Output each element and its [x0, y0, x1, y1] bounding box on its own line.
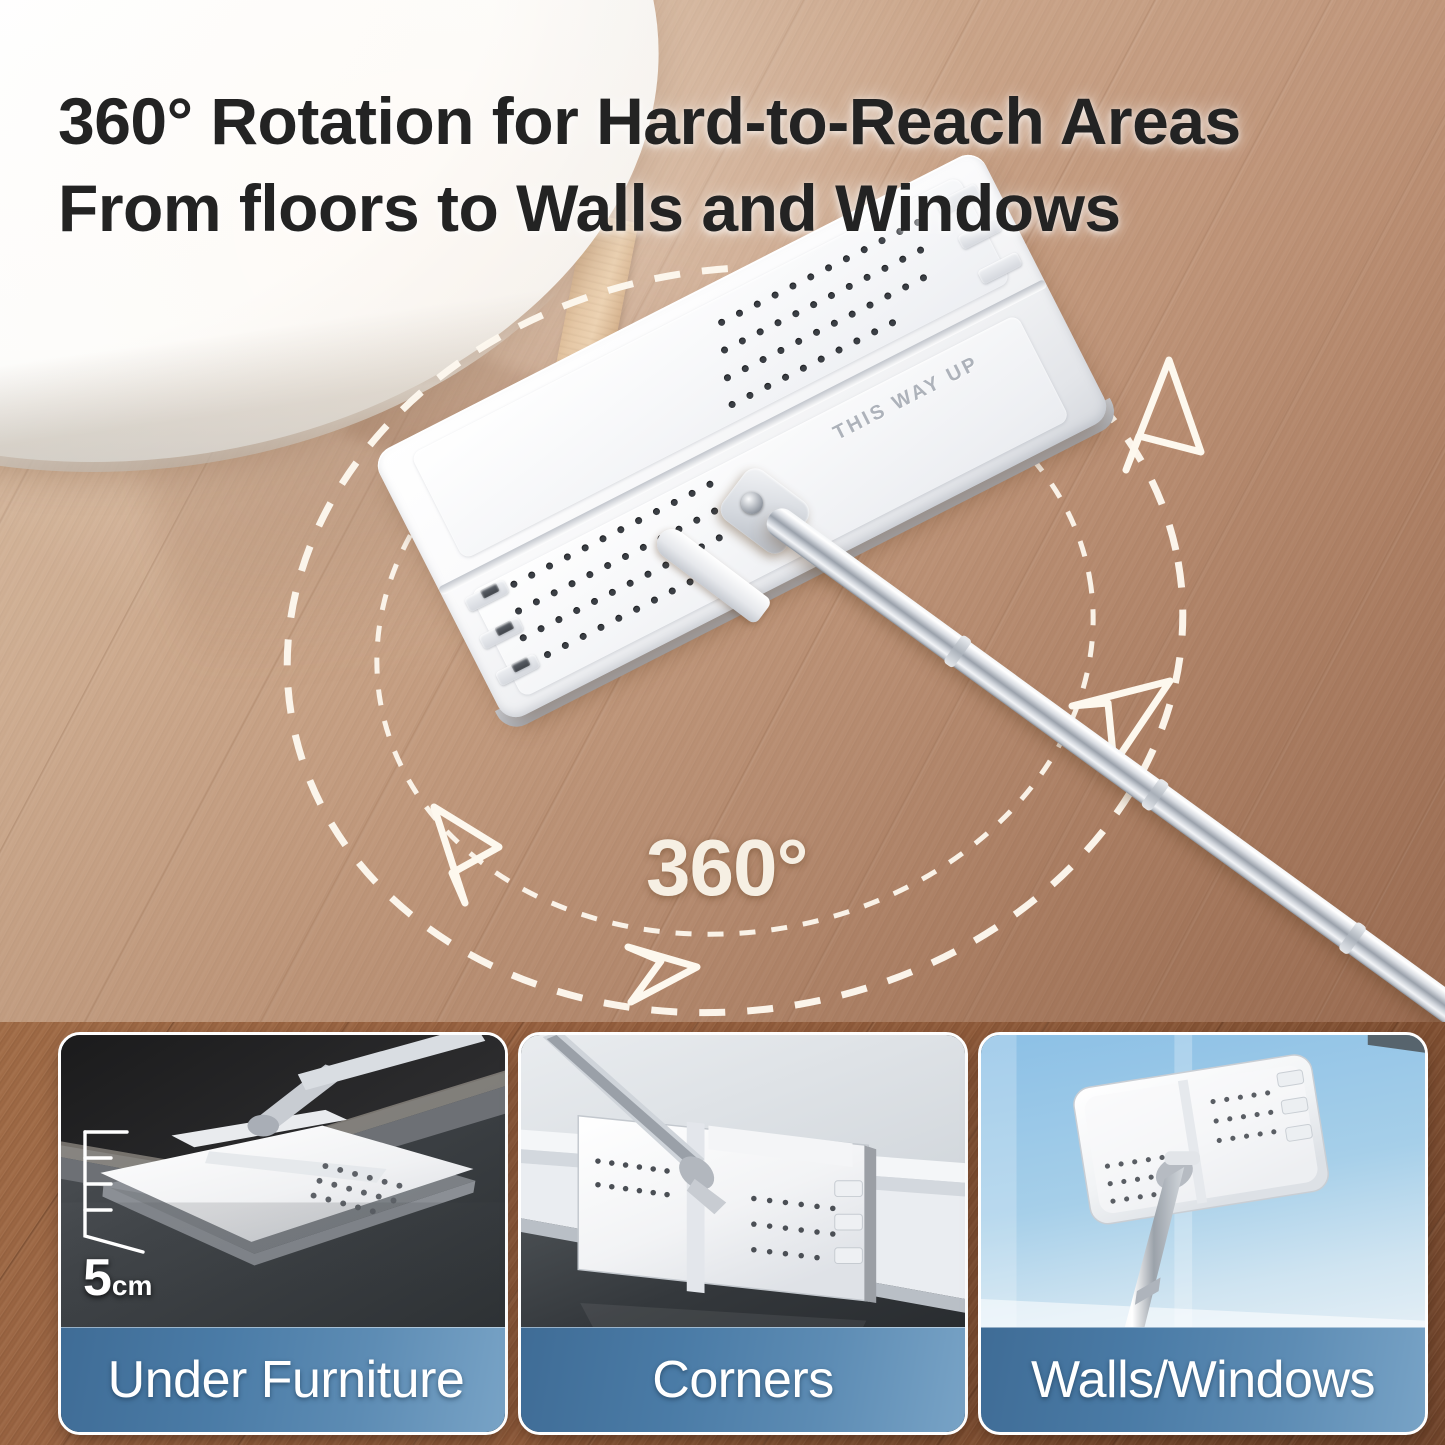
clearance-unit: cm [112, 1270, 152, 1301]
panel-label-text: Under Furniture [102, 1354, 465, 1406]
feature-panels-section: 5cm Under Furniture [0, 1022, 1445, 1445]
headline-line-1: 360° Rotation for Hard-to-Reach Areas [58, 84, 1241, 158]
hero-section: THIS WAY UP 360° 360° Rotation for Hard-… [0, 0, 1445, 1022]
clearance-measurement: 5cm [83, 1252, 152, 1304]
rotation-degree-label: 360° [646, 822, 807, 914]
telescopic-joint-ring [943, 634, 973, 669]
headline-line-2: From floors to Walls and Windows [58, 165, 1398, 252]
telescopic-joint-ring [1140, 778, 1170, 813]
mop-swivel-pin [741, 492, 763, 514]
panel-label-text: Walls/Windows [1031, 1354, 1375, 1406]
clearance-value: 5 [83, 1249, 112, 1307]
telescopic-joint-ring [1338, 921, 1368, 956]
feature-panel-corners[interactable]: Corners [518, 1032, 968, 1435]
panel-label-text: Corners [652, 1354, 833, 1406]
feature-panel-walls-windows[interactable]: Walls/Windows [978, 1032, 1428, 1435]
measurement-ruler-icon [81, 1124, 171, 1254]
panel-label-corners: Corners [521, 1327, 965, 1432]
feature-panel-under-furniture[interactable]: 5cm Under Furniture [58, 1032, 508, 1435]
product-feature-graphic: THIS WAY UP 360° 360° Rotation for Hard-… [0, 0, 1445, 1445]
panel-label-walls-windows: Walls/Windows [981, 1327, 1425, 1432]
panel-label-under-furniture: Under Furniture [61, 1327, 505, 1432]
page-title: 360° Rotation for Hard-to-Reach Areas Fr… [58, 78, 1398, 252]
telescopic-handle [761, 503, 1445, 1022]
